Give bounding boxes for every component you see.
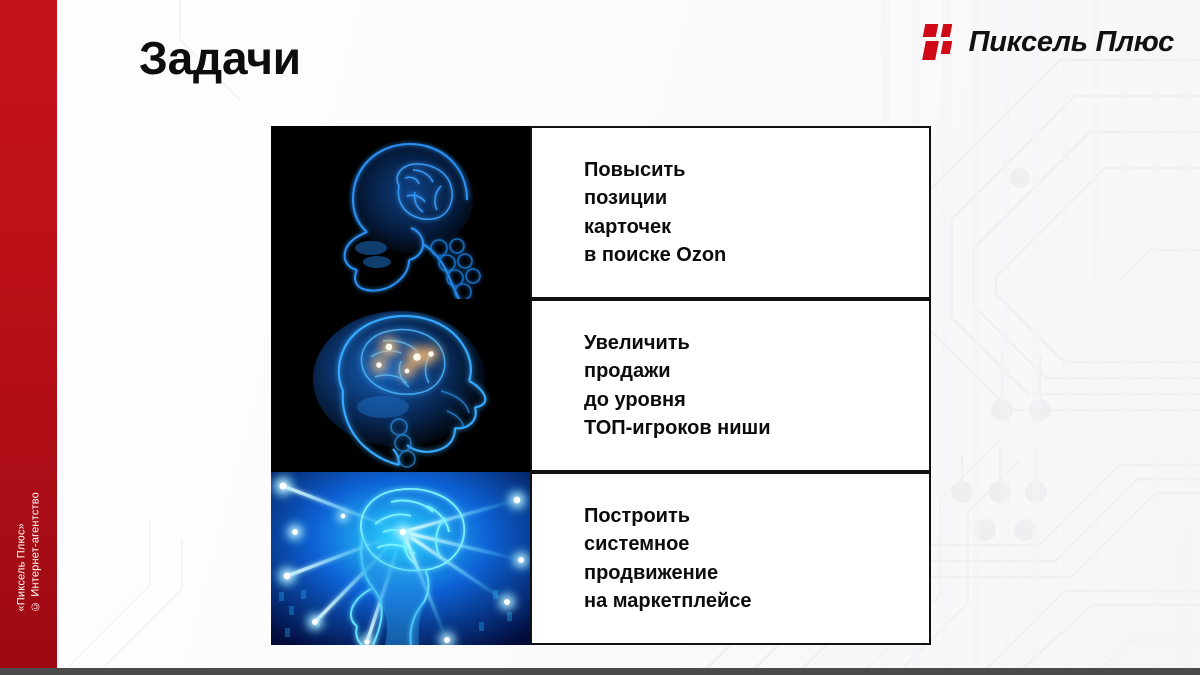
brand-sidebar: © Интернет-агентство «Пиксель Плюс» xyxy=(0,0,57,668)
task-text-panel-2: Увеличить продажи до уровня ТОП-игроков … xyxy=(530,299,931,472)
copyright-vertical: © Интернет-агентство «Пиксель Плюс» xyxy=(16,492,41,612)
brand-logo[interactable]: Пиксель Плюс xyxy=(922,24,1174,60)
row-image-neon-head-radiating-brain xyxy=(271,472,530,645)
row-image-xray-skull-small-brain xyxy=(271,126,530,299)
pixel-plus-mark-icon xyxy=(922,24,956,60)
task-text-panel-1: Повысить позиции карточек в поиске Ozon xyxy=(530,126,931,299)
task-text-panel-3: Построить системное продвижение на марке… xyxy=(530,472,931,645)
page-title: Задачи xyxy=(139,33,301,84)
copyright-line-2: «Пиксель Плюс» xyxy=(16,523,27,612)
tasks-grid: Повысить позиции карточек в поиске Ozon xyxy=(271,126,931,645)
brand-logo-text: Пиксель Плюс xyxy=(969,26,1174,59)
row-image-xray-head-glowing-brain xyxy=(271,299,530,472)
task-text-3: Построить системное продвижение на марке… xyxy=(532,502,751,616)
task-text-2: Увеличить продажи до уровня ТОП-игроков … xyxy=(532,329,771,443)
slide: © Интернет-агентство «Пиксель Плюс» Зада… xyxy=(0,0,1200,675)
bottom-strip-decoration xyxy=(0,668,1200,675)
task-text-1: Повысить позиции карточек в поиске Ozon xyxy=(532,156,726,270)
copyright-line-1: © Интернет-агентство xyxy=(30,492,41,612)
